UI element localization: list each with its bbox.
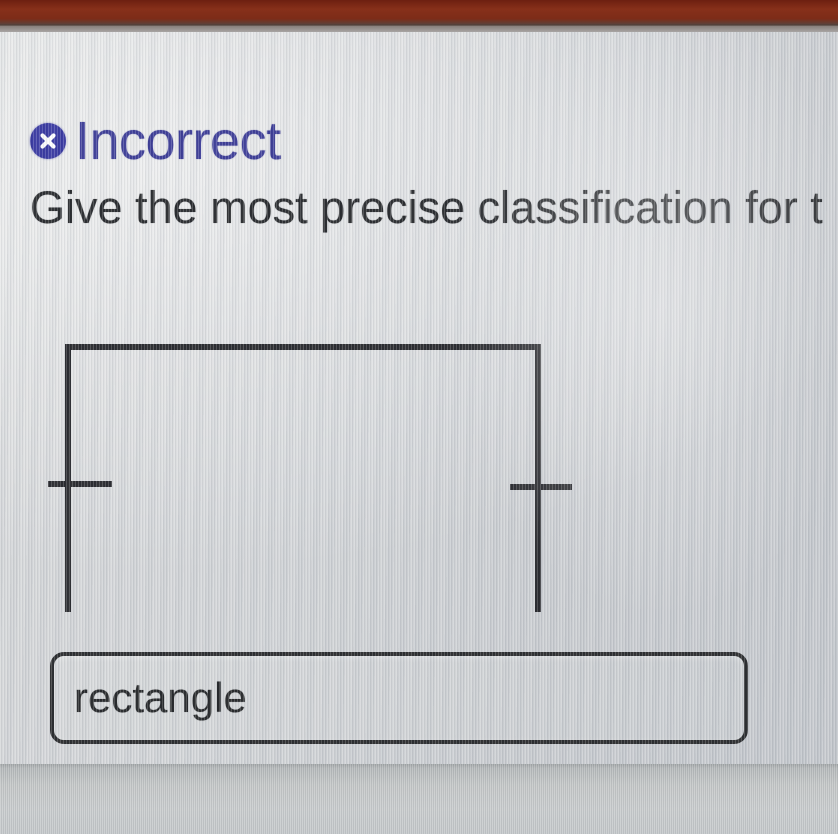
page-content: Incorrect Give the most precise classifi… (0, 32, 838, 766)
answer-input[interactable]: rectangle (50, 652, 748, 744)
monitor-bottom-bezel (0, 764, 838, 834)
rectangle-outline (68, 347, 538, 612)
quadrilateral-diagram (0, 282, 620, 612)
desk-surface-band (0, 0, 838, 26)
answer-input-value: rectangle (74, 677, 247, 719)
circle-x-icon (30, 123, 66, 159)
status-label: Incorrect (75, 114, 281, 168)
question-prompt: Give the most precise classification for… (30, 184, 838, 231)
screenshot-root: Incorrect Give the most precise classifi… (0, 0, 838, 834)
feedback-status: Incorrect (30, 114, 281, 168)
